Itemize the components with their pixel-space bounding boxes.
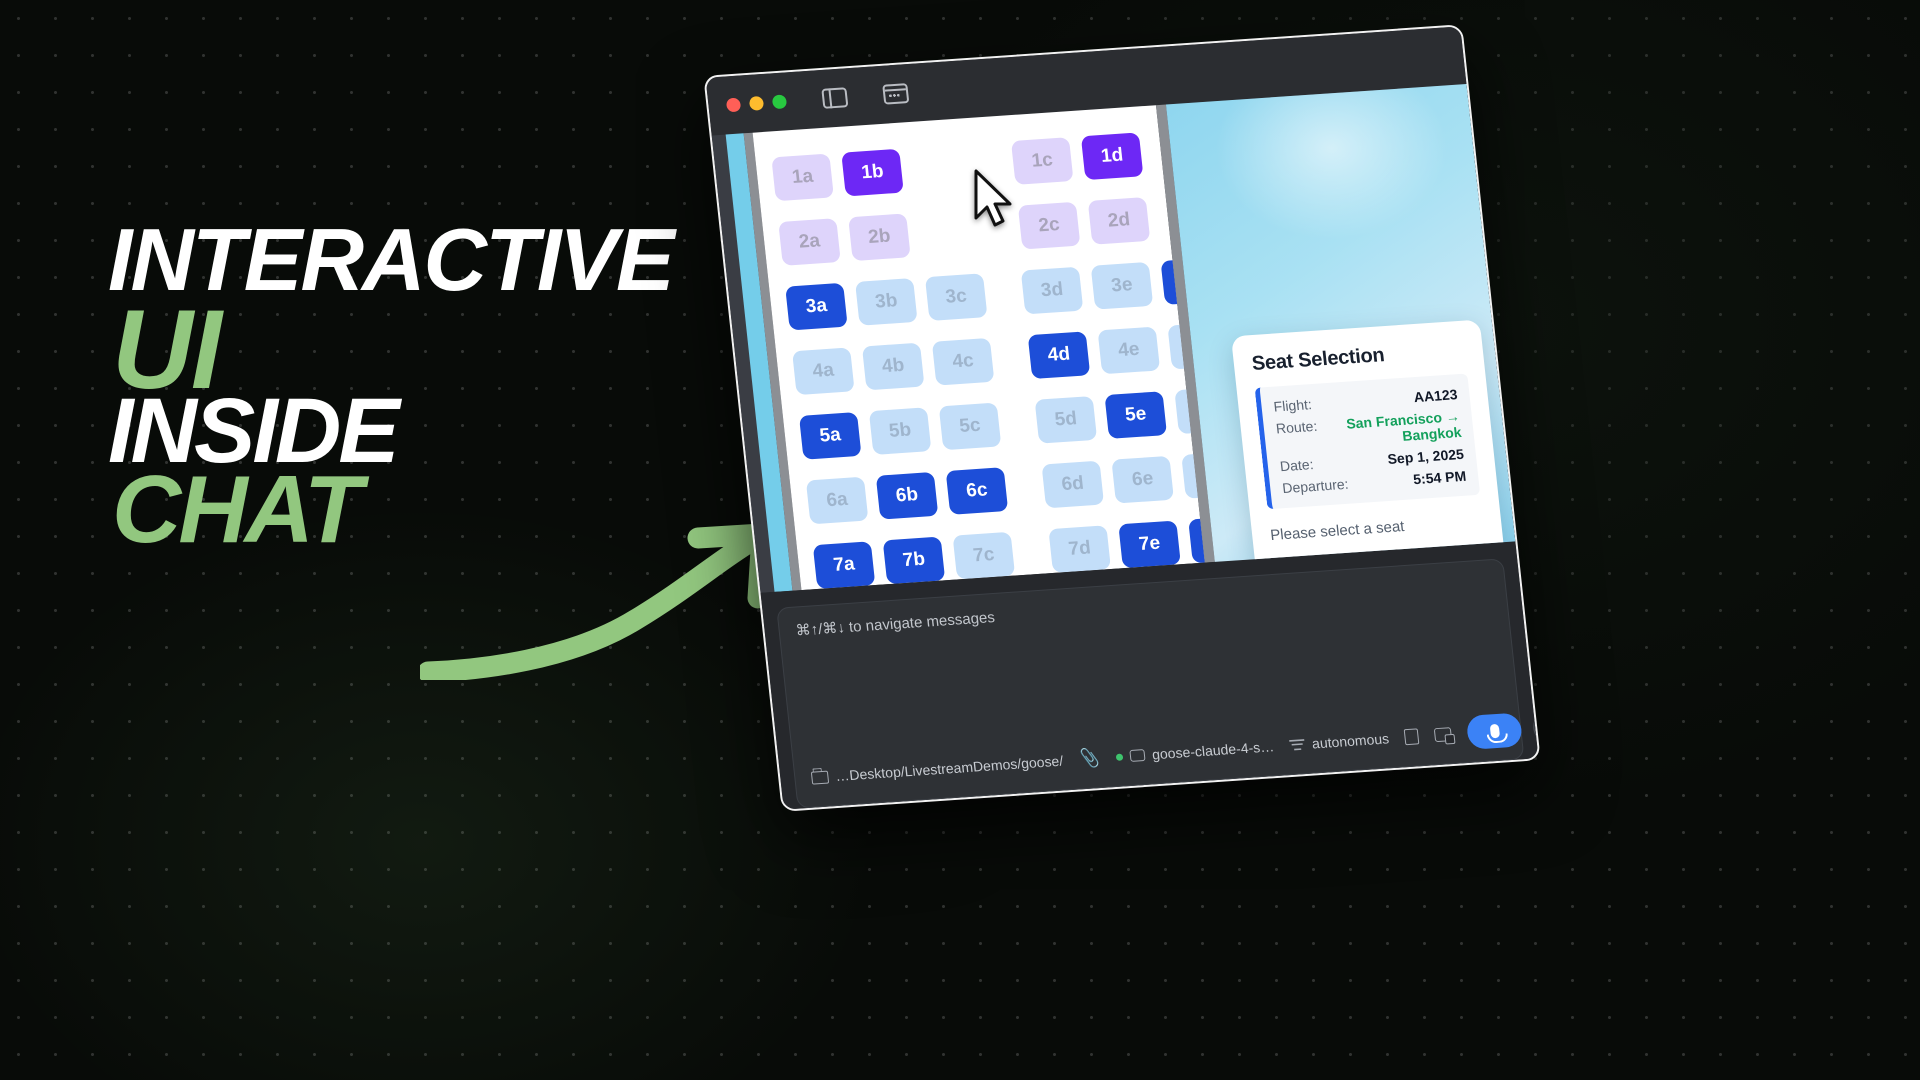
seat-selection-pane: Seat Selection Flight:AA123Route:San Fra… [1166, 84, 1515, 562]
seat-3b[interactable]: 3b [855, 278, 918, 326]
model-icon [1129, 749, 1145, 762]
close-button[interactable] [726, 98, 741, 113]
seat-row: 1a1b1c1d [771, 132, 1147, 201]
seat-5e[interactable]: 5e [1104, 391, 1167, 439]
seat-5d[interactable]: 5d [1035, 396, 1098, 444]
seat-7e[interactable]: 7e [1118, 520, 1181, 568]
seat-5c[interactable]: 5c [939, 403, 1002, 451]
status-dot-icon [1116, 753, 1124, 760]
window-layout-icon[interactable] [882, 83, 909, 105]
seat-2a[interactable]: 2a [778, 218, 841, 266]
seat-6e[interactable]: 6e [1111, 456, 1174, 504]
seat-2c[interactable]: 2c [1018, 202, 1081, 250]
seat-row: 6a6b6c6d6e6f [806, 455, 1182, 524]
seat-6a[interactable]: 6a [806, 477, 869, 525]
flight-details: Flight:AA123Route:San Francisco → Bangko… [1255, 373, 1481, 509]
aisle [992, 357, 1030, 360]
aisle [999, 422, 1037, 425]
seat-row: 5a5b5c5d5e5f [799, 391, 1175, 460]
sidebar-toggle-icon[interactable] [821, 87, 848, 109]
seat-6b[interactable]: 6b [876, 472, 939, 520]
seat-4d[interactable]: 4d [1028, 331, 1091, 379]
traffic-light-group [726, 94, 787, 112]
summary-button[interactable] [1404, 728, 1420, 745]
detail-value: San Francisco → Bangkok [1328, 408, 1462, 449]
new-session-button[interactable] [1434, 727, 1452, 742]
model-selector[interactable]: goose-claude-4-s… [1115, 738, 1275, 765]
seat-7d[interactable]: 7d [1048, 525, 1111, 573]
seat-group-left: 2a2b [778, 213, 910, 265]
detail-value: 5:54 PM [1412, 468, 1467, 488]
seat-row: 3a3b3c3d3e3f [785, 261, 1161, 330]
seat-selection-card: Seat Selection Flight:AA123Route:San Fra… [1231, 320, 1511, 562]
minimize-button[interactable] [749, 96, 764, 111]
folder-icon [811, 770, 829, 784]
microphone-button[interactable] [1466, 712, 1524, 749]
seat-3d[interactable]: 3d [1021, 267, 1084, 315]
mouse-cursor [972, 168, 1018, 230]
card-title: Seat Selection [1251, 339, 1466, 376]
mode-icon [1289, 739, 1305, 751]
seat-4a[interactable]: 4a [792, 347, 855, 395]
seat-group-left: 1a1b [771, 149, 903, 201]
model-label: goose-claude-4-s… [1151, 738, 1275, 762]
seat-group-left: 3a3b3c [785, 273, 987, 330]
seat-5b[interactable]: 5b [869, 407, 932, 455]
seat-1b[interactable]: 1b [841, 149, 904, 197]
detail-label: Flight: [1273, 396, 1313, 415]
zoom-button[interactable] [772, 94, 787, 109]
seat-row: 4a4b4c4d4e4f [792, 326, 1168, 395]
detail-value: AA123 [1413, 386, 1458, 405]
seat-group-right: 5d5e5f [1035, 386, 1205, 443]
app-window: 1a1b1c1d2a2b2c2d3a3b3c3d3e3f4a4b4c4d4e4f… [703, 24, 1540, 812]
seat-7b[interactable]: 7b [883, 537, 946, 585]
seat-4e[interactable]: 4e [1098, 327, 1161, 375]
seat-3e[interactable]: 3e [1091, 262, 1154, 310]
aisle [985, 293, 1023, 296]
summary-icon [1404, 728, 1420, 745]
working-directory[interactable]: …Desktop/LivestreamDemos/goose/ [811, 753, 1064, 786]
seat-group-left: 6a6b6c [806, 467, 1008, 524]
seat-2b[interactable]: 2b [848, 213, 911, 261]
detail-value: Sep 1, 2025 [1387, 446, 1465, 467]
seat-5a[interactable]: 5a [799, 412, 862, 460]
detail-label: Route: [1275, 418, 1318, 437]
aisle [1013, 551, 1051, 554]
seat-row: 2a2b2c2d [778, 197, 1154, 266]
paperclip-icon: 📎 [1078, 748, 1101, 770]
attach-button[interactable]: 📎 [1078, 748, 1101, 769]
seat-group-right: 2c2d [1018, 197, 1150, 249]
seat-3c[interactable]: 3c [925, 273, 988, 321]
seat-7c[interactable]: 7c [953, 532, 1016, 580]
seat-1d[interactable]: 1d [1081, 132, 1144, 180]
seat-6d[interactable]: 6d [1041, 461, 1104, 509]
detail-label: Departure: [1282, 476, 1350, 496]
seat-group-right: 1c1d [1011, 132, 1143, 184]
new-session-icon [1434, 727, 1452, 742]
navigation-hint: ⌘↑/⌘↓ to navigate messages [795, 574, 1490, 639]
seat-group-right: 6d6e6f [1041, 451, 1204, 508]
selection-hint: Please select a seat [1269, 513, 1483, 544]
chat-actions: ➤ Send [1466, 705, 1541, 749]
mode-selector[interactable]: autonomous [1289, 730, 1390, 753]
seat-6c[interactable]: 6c [946, 467, 1009, 515]
working-directory-label: …Desktop/LivestreamDemos/goose/ [835, 753, 1064, 784]
aisle [1006, 486, 1044, 489]
mode-label: autonomous [1311, 730, 1390, 751]
seat-1c[interactable]: 1c [1011, 137, 1074, 185]
seat-1a[interactable]: 1a [771, 154, 834, 202]
seat-2d[interactable]: 2d [1088, 197, 1151, 245]
seat-7a[interactable]: 7a [813, 541, 876, 589]
seat-group-left: 4a4b4c [792, 338, 994, 395]
seat-4c[interactable]: 4c [932, 338, 995, 386]
detail-label: Date: [1279, 456, 1314, 474]
seat-group-right: 4d4e4f [1028, 322, 1205, 379]
microphone-icon [1490, 724, 1500, 739]
seat-group-left: 5a5b5c [799, 403, 1001, 460]
seat-3a[interactable]: 3a [785, 283, 848, 331]
app-body: 1a1b1c1d2a2b2c2d3a3b3c3d3e3f4a4b4c4d4e4f… [712, 84, 1516, 593]
seat-4b[interactable]: 4b [862, 343, 925, 391]
